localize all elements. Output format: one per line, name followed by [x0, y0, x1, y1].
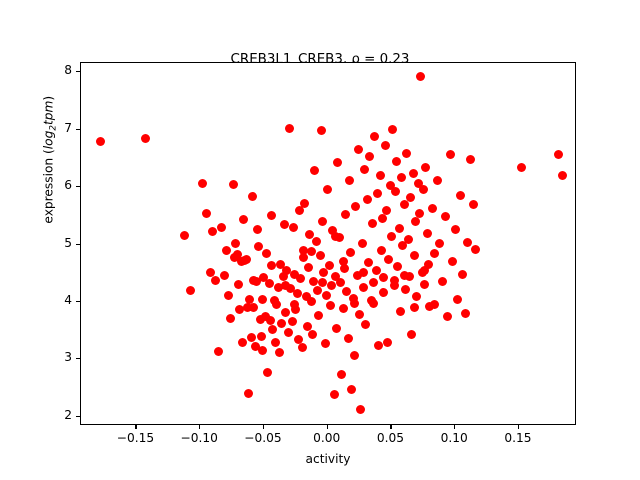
scatter-point — [373, 189, 382, 198]
scatter-point — [364, 258, 373, 267]
scatter-point — [396, 307, 405, 316]
scatter-point — [397, 173, 406, 182]
x-axis-tick-label: 0.00 — [295, 431, 359, 445]
scatter-point — [395, 224, 404, 233]
scatter-point — [453, 295, 462, 304]
scatter-point — [430, 300, 439, 309]
scatter-point — [358, 239, 367, 248]
scatter-point — [323, 185, 332, 194]
scatter-point — [202, 209, 211, 218]
scatter-point — [347, 385, 356, 394]
scatter-point — [257, 332, 266, 341]
scatter-point — [231, 239, 240, 248]
scatter-point — [322, 291, 331, 300]
scatter-point — [377, 246, 386, 255]
scatter-point — [289, 223, 298, 232]
y-axis-tick — [76, 129, 80, 130]
scatter-point — [298, 343, 307, 352]
scatter-points-layer — [81, 63, 575, 424]
x-axis-tick — [518, 425, 519, 429]
scatter-point — [387, 232, 396, 241]
scatter-point — [198, 179, 207, 188]
scatter-point — [374, 341, 383, 350]
scatter-point — [363, 195, 372, 204]
scatter-point — [354, 145, 363, 154]
scatter-point — [310, 166, 319, 175]
scatter-point — [336, 278, 345, 287]
scatter-point — [247, 333, 256, 342]
scatter-point — [234, 280, 243, 289]
scatter-point — [180, 231, 189, 240]
y-axis-tick — [76, 416, 80, 417]
scatter-point — [471, 245, 480, 254]
y-axis-label-math-base: log — [41, 131, 55, 150]
scatter-point — [244, 389, 253, 398]
scatter-point — [307, 297, 316, 306]
scatter-point — [381, 141, 390, 150]
scatter-point — [390, 281, 399, 290]
scatter-point — [277, 319, 286, 328]
y-axis-tick — [76, 358, 80, 359]
scatter-point — [290, 300, 299, 309]
x-axis-label: activity — [80, 452, 576, 466]
scatter-point — [420, 266, 429, 275]
scatter-point — [369, 299, 378, 308]
scatter-point — [271, 338, 280, 347]
scatter-point — [469, 200, 478, 209]
scatter-point — [438, 277, 447, 286]
scatter-point — [317, 126, 326, 135]
scatter-point — [383, 338, 392, 347]
scatter-point — [443, 312, 452, 321]
scatter-point — [318, 278, 327, 287]
scatter-point — [370, 132, 379, 141]
scatter-point — [339, 304, 348, 313]
scatter-point — [382, 206, 391, 215]
y-axis-tick-label: 3 — [26, 350, 72, 364]
scatter-point — [312, 237, 321, 246]
scatter-point — [446, 150, 455, 159]
y-axis-label-prefix: expression ( — [41, 149, 55, 223]
x-axis-tick-label: −0.05 — [231, 431, 295, 445]
scatter-point — [410, 251, 419, 260]
scatter-point — [267, 261, 276, 270]
scatter-point — [281, 308, 290, 317]
scatter-point — [226, 314, 235, 323]
scatter-point — [321, 339, 330, 348]
scatter-point — [333, 158, 342, 167]
x-axis-tick-label: 0.05 — [358, 431, 422, 445]
scatter-point — [341, 210, 350, 219]
scatter-point — [253, 225, 262, 234]
scatter-point — [384, 255, 393, 264]
scatter-point — [313, 286, 322, 295]
scatter-point — [407, 330, 416, 339]
scatter-point — [517, 163, 526, 172]
x-axis-tick — [454, 425, 455, 429]
x-axis-tick-label: −0.10 — [167, 431, 231, 445]
scatter-point — [300, 199, 309, 208]
scatter-point — [217, 223, 226, 232]
scatter-point — [304, 263, 313, 272]
scatter-point — [401, 285, 410, 294]
scatter-point — [222, 246, 231, 255]
scatter-point — [308, 330, 317, 339]
scatter-point — [409, 169, 418, 178]
scatter-point — [296, 274, 305, 283]
scatter-point — [318, 217, 327, 226]
scatter-point — [388, 125, 397, 134]
scatter-point — [258, 295, 267, 304]
scatter-point — [325, 261, 334, 270]
scatter-point — [419, 185, 428, 194]
scatter-point — [275, 348, 284, 357]
scatter-point — [316, 251, 325, 260]
scatter-point — [214, 347, 223, 356]
scatter-point — [379, 288, 388, 297]
scatter-point — [378, 214, 387, 223]
scatter-point — [391, 187, 400, 196]
scatter-point — [307, 247, 316, 256]
y-axis-tick — [76, 186, 80, 187]
x-axis-tick — [263, 425, 264, 429]
scatter-point — [314, 311, 323, 320]
x-axis-tick-label: −0.15 — [103, 431, 167, 445]
scatter-point — [355, 310, 364, 319]
scatter-point — [435, 239, 444, 248]
scatter-plot-figure: CREB3L1_CREB3, ρ = 0.23 hg38_v1_chr9_+_3… — [0, 0, 640, 480]
scatter-point — [554, 150, 563, 159]
scatter-point — [456, 191, 465, 200]
scatter-point — [331, 232, 340, 241]
scatter-point — [451, 225, 460, 234]
scatter-point — [359, 268, 368, 277]
scatter-point — [412, 292, 421, 301]
scatter-point — [263, 368, 272, 377]
scatter-point — [285, 124, 294, 133]
scatter-point — [345, 176, 354, 185]
scatter-point — [258, 346, 267, 355]
x-axis-tick-label: 0.10 — [422, 431, 486, 445]
scatter-point — [242, 255, 251, 264]
scatter-point — [284, 328, 293, 337]
scatter-point — [186, 286, 195, 295]
scatter-point — [266, 316, 275, 325]
scatter-point — [441, 212, 450, 221]
scatter-point — [268, 325, 277, 334]
y-axis-label: expression (log2tpm) — [41, 30, 58, 290]
scatter-point — [359, 283, 368, 292]
scatter-point — [96, 137, 105, 146]
scatter-point — [141, 134, 150, 143]
scatter-point — [249, 303, 258, 312]
scatter-point — [369, 278, 378, 287]
scatter-point — [393, 262, 402, 271]
scatter-point — [406, 193, 415, 202]
scatter-point — [423, 229, 432, 238]
scatter-point — [361, 320, 370, 329]
scatter-point — [368, 219, 377, 228]
scatter-point — [376, 171, 385, 180]
y-axis-label-suffix: ) — [41, 96, 55, 101]
scatter-point — [293, 289, 302, 298]
y-axis-tick — [76, 301, 80, 302]
y-axis-label-math-unit: tpm — [41, 101, 55, 125]
scatter-point — [267, 211, 276, 220]
scatter-point — [238, 338, 247, 347]
scatter-point — [404, 235, 413, 244]
scatter-point — [463, 238, 472, 247]
y-axis-tick — [76, 71, 80, 72]
scatter-point — [558, 171, 567, 180]
scatter-point — [248, 192, 257, 201]
scatter-point — [229, 180, 238, 189]
scatter-point — [415, 209, 424, 218]
scatter-point — [458, 270, 467, 279]
x-axis-tick — [135, 425, 136, 429]
x-axis-tick-label: 0.15 — [486, 431, 550, 445]
y-axis-tick-label: 2 — [26, 408, 72, 422]
scatter-point — [428, 204, 437, 213]
scatter-point — [416, 72, 425, 81]
scatter-point — [392, 157, 401, 166]
scatter-point — [211, 276, 220, 285]
scatter-point — [356, 405, 365, 414]
scatter-point — [339, 257, 348, 266]
scatter-point — [272, 300, 281, 309]
scatter-point — [379, 273, 388, 282]
scatter-point — [346, 248, 355, 257]
scatter-point — [262, 249, 271, 258]
scatter-point — [420, 280, 429, 289]
scatter-point — [280, 220, 289, 229]
scatter-point — [350, 299, 359, 308]
scatter-point — [309, 277, 318, 286]
x-axis-tick — [327, 425, 328, 429]
scatter-point — [410, 303, 419, 312]
scatter-point — [326, 301, 335, 310]
plot-area — [80, 62, 576, 425]
scatter-point — [220, 271, 229, 280]
scatter-point — [327, 281, 336, 290]
scatter-point — [208, 227, 217, 236]
scatter-point — [430, 249, 439, 258]
x-axis-tick — [390, 425, 391, 429]
y-axis-tick-label: 4 — [26, 293, 72, 307]
scatter-point — [400, 271, 409, 280]
scatter-point — [350, 351, 359, 360]
y-axis-label-math-sub: 2 — [49, 125, 59, 131]
scatter-point — [239, 215, 248, 224]
y-axis-tick — [76, 244, 80, 245]
scatter-point — [360, 165, 369, 174]
scatter-point — [433, 176, 442, 185]
scatter-point — [299, 253, 308, 262]
scatter-point — [337, 370, 346, 379]
scatter-point — [421, 163, 430, 172]
scatter-point — [288, 317, 297, 326]
scatter-point — [351, 202, 360, 211]
scatter-point — [411, 217, 420, 226]
scatter-point — [265, 279, 274, 288]
x-axis-tick — [199, 425, 200, 429]
scatter-point — [365, 152, 374, 161]
scatter-point — [466, 155, 475, 164]
scatter-point — [332, 324, 341, 333]
scatter-point — [330, 390, 339, 399]
scatter-point — [344, 334, 353, 343]
scatter-point — [461, 309, 470, 318]
scatter-point — [224, 291, 233, 300]
scatter-point — [402, 149, 411, 158]
scatter-point — [448, 257, 457, 266]
